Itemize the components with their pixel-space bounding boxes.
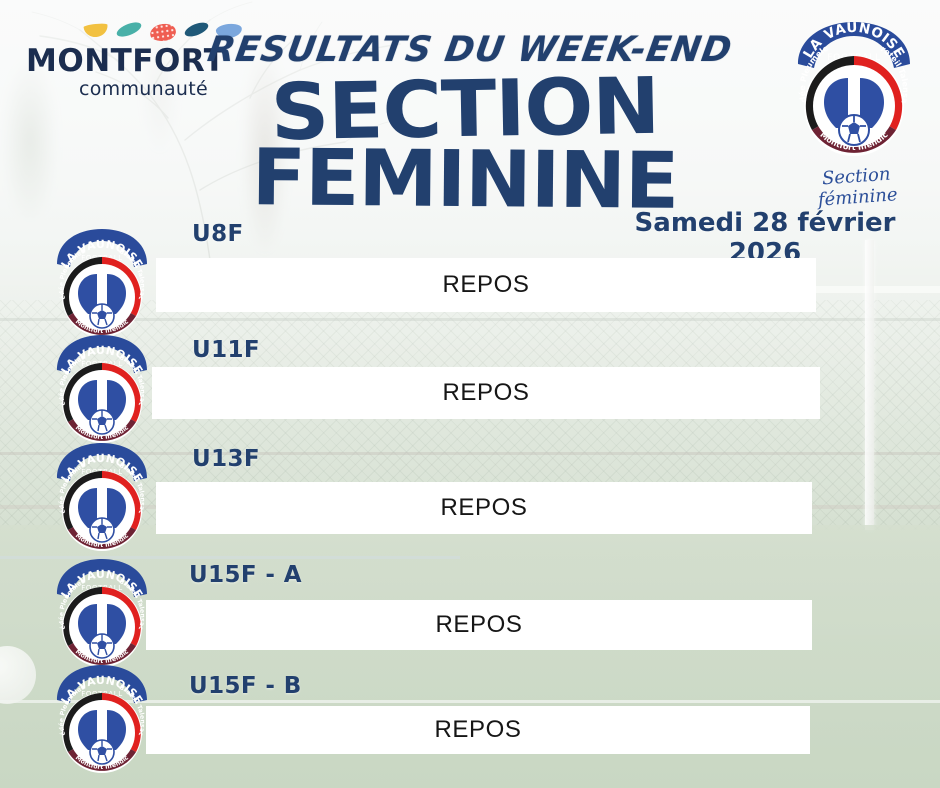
results-poster: MONTFORT communauté RESULTATS DU WEEK-EN… bbox=[0, 0, 940, 788]
result-text: REPOS bbox=[442, 379, 529, 407]
club-crest-script: Section féminine bbox=[797, 162, 918, 212]
page-title: SECTION FEMININE bbox=[250, 78, 680, 213]
result-text: REPOS bbox=[440, 494, 527, 522]
row-club-crest: LA VAUNOISE FOOTBALL Bédée Pleumeleuc Br… bbox=[50, 662, 154, 774]
result-bar: REPOS bbox=[156, 482, 812, 534]
row-club-crest: LA VAUNOISE FOOTBALL Bédée Pleumeleuc Br… bbox=[50, 332, 154, 444]
category-label: U15F - A bbox=[189, 562, 302, 588]
result-bar: REPOS bbox=[152, 367, 820, 419]
montfort-logo-subtitle: communauté bbox=[26, 78, 208, 100]
row-club-crest: LA VAUNOISE FOOTBALL Bédée Pleumeleuc Br… bbox=[50, 440, 154, 552]
result-bar: REPOS bbox=[146, 600, 812, 650]
result-text: REPOS bbox=[435, 611, 522, 639]
row-club-crest: LA VAUNOISE FOOTBALL Bédée Pleumeleuc Br… bbox=[50, 556, 154, 668]
category-label: U8F bbox=[192, 221, 244, 247]
page-title-line2: FEMININE bbox=[245, 146, 684, 215]
category-label: U11F bbox=[192, 337, 260, 363]
result-bar: REPOS bbox=[146, 706, 810, 754]
result-text: REPOS bbox=[434, 716, 521, 744]
row-club-crest: LA VAUNOISE FOOTBALL Bédée Pleumeleuc Br… bbox=[50, 226, 154, 338]
result-bar: REPOS bbox=[156, 258, 816, 312]
club-crest-main: LA VAUNOISE FOOTBALL Bédée Pleumeleuc Br… bbox=[790, 18, 918, 163]
result-text: REPOS bbox=[442, 271, 529, 299]
category-label: U13F bbox=[192, 446, 260, 472]
category-label: U15F - B bbox=[189, 673, 302, 699]
